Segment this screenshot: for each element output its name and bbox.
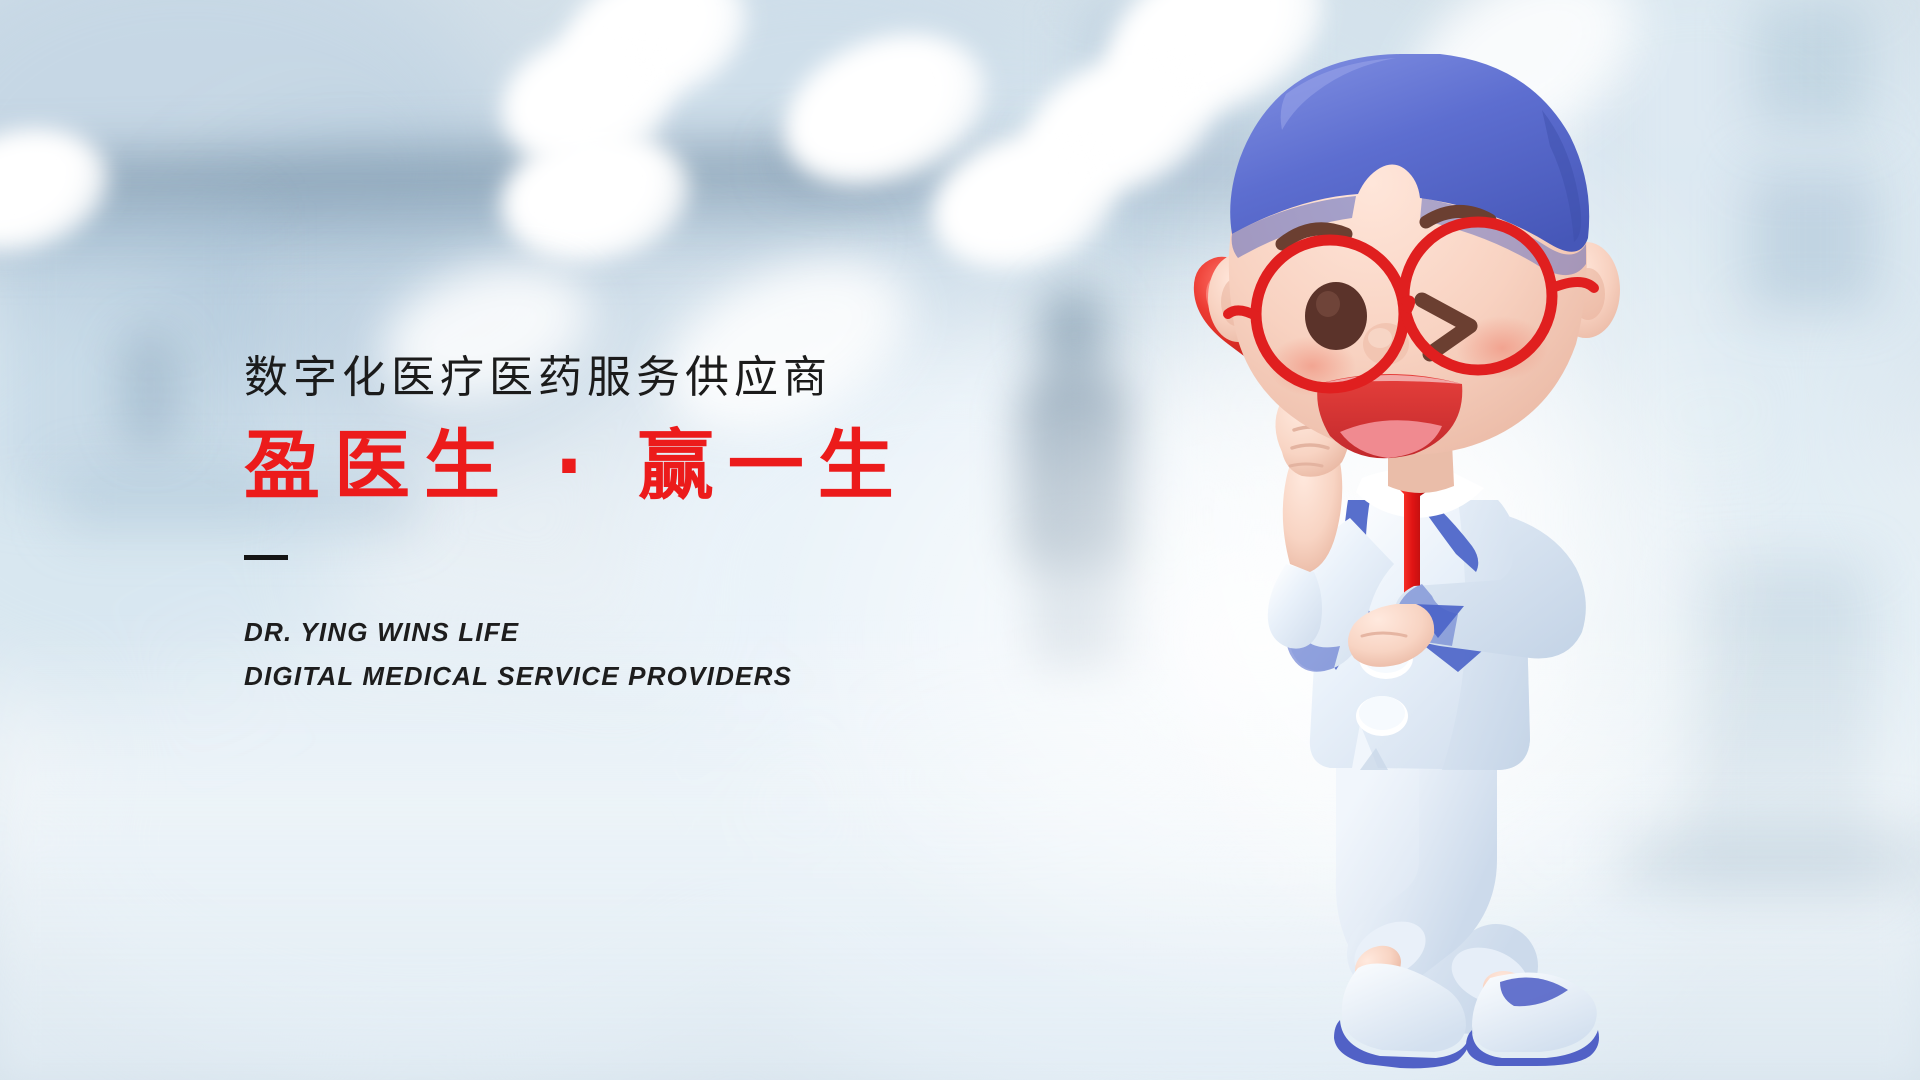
head bbox=[1208, 54, 1620, 458]
eye-open bbox=[1305, 282, 1367, 350]
divider-rule bbox=[244, 555, 288, 560]
person-silhouette-secondary bbox=[120, 330, 180, 450]
doctor-mascot-illustration bbox=[1190, 48, 1750, 1058]
banner-stage: 数字化医疗医药服务供应商 盈医生 · 赢一生 DR. YING WINS LIF… bbox=[0, 0, 1920, 1080]
headline-subtitle-cn: 数字化医疗医药服务供应商 bbox=[244, 350, 1004, 405]
english-taglines: DR. YING WINS LIFE DIGITAL MEDICAL SERVI… bbox=[244, 610, 1004, 699]
temple-right bbox=[1552, 282, 1594, 288]
wall-panel bbox=[1752, 0, 1872, 130]
headline-main-cn: 盈医生 · 赢一生 bbox=[244, 421, 1004, 511]
temple-left bbox=[1228, 310, 1256, 316]
headline-copy-block: 数字化医疗医药服务供应商 盈医生 · 赢一生 DR. YING WINS LIF… bbox=[244, 350, 1004, 699]
english-line-1: DR. YING WINS LIFE bbox=[244, 610, 1004, 655]
english-line-2: DIGITAL MEDICAL SERVICE PROVIDERS bbox=[244, 654, 1004, 699]
